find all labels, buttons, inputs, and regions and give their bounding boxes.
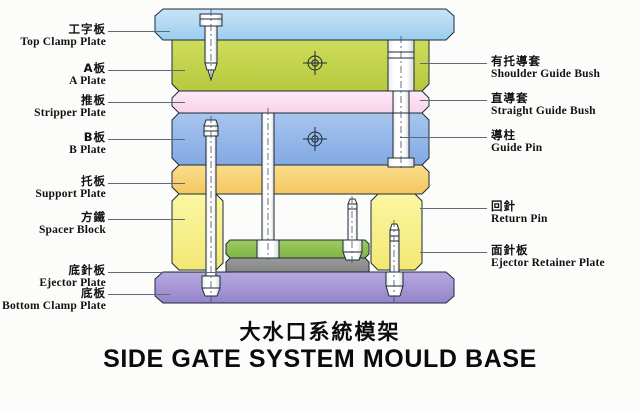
label-bottom-clamp-plate: 底板 Bottom Clamp Plate [2, 287, 106, 313]
label-b-plate-cn: B板 [69, 131, 106, 144]
label-a-plate: A板 A Plate [69, 62, 106, 88]
label-guide-pin: 導柱 Guide Pin [491, 129, 542, 155]
label-return-pin: 回針 Return Pin [491, 200, 548, 226]
label-straight-guide-bush-en: Straight Guide Bush [491, 105, 596, 118]
label-a-plate-cn: A板 [69, 62, 106, 75]
leader-b-plate [108, 139, 185, 140]
leader-straight-guide-bush [420, 100, 487, 101]
title-chinese: 大水口系統模架 [0, 316, 640, 346]
part-bottom-clamp-plate [155, 272, 454, 303]
label-support-plate-en: Support Plate [35, 188, 106, 201]
label-top-clamp-plate-cn: 工字板 [20, 23, 106, 36]
label-shoulder-guide-bush-cn: 有托導套 [491, 55, 600, 68]
leader-support-plate [108, 183, 185, 184]
leader-ejector-retainer-plate [420, 252, 487, 253]
label-straight-guide-bush: 直導套 Straight Guide Bush [491, 92, 596, 118]
label-spacer-block: 方鐵 Spacer Block [39, 211, 106, 237]
label-ejector-retainer-plate: 面針板 Ejector Retainer Plate [491, 244, 605, 270]
part-stripper-plate [172, 91, 429, 113]
label-b-plate: B板 B Plate [69, 131, 106, 157]
label-straight-guide-bush-cn: 直導套 [491, 92, 596, 105]
leader-ejector-plate [108, 272, 230, 273]
leader-shoulder-guide-bush [420, 63, 487, 64]
label-top-clamp-plate-en: Top Clamp Plate [20, 36, 106, 49]
label-b-plate-en: B Plate [69, 144, 106, 157]
leader-return-pin [420, 208, 487, 209]
label-ejector-retainer-plate-en: Ejector Retainer Plate [491, 257, 605, 270]
title-english: SIDE GATE SYSTEM MOULD BASE [0, 345, 640, 374]
leader-a-plate [108, 70, 185, 71]
label-guide-pin-cn: 導柱 [491, 129, 542, 142]
label-return-pin-cn: 回針 [491, 200, 548, 213]
label-spacer-block-en: Spacer Block [39, 224, 106, 237]
label-shoulder-guide-bush-en: Shoulder Guide Bush [491, 68, 600, 81]
label-stripper-plate-cn: 推板 [34, 94, 106, 107]
mould-base-cross-section [150, 8, 470, 313]
part-return-pin-inner-right [343, 199, 362, 260]
label-bottom-clamp-plate-en: Bottom Clamp Plate [2, 300, 106, 313]
label-ejector-retainer-plate-cn: 面針板 [491, 244, 605, 257]
label-support-plate-cn: 托板 [35, 175, 106, 188]
label-bottom-clamp-plate-cn: 底板 [2, 287, 106, 300]
label-stripper-plate: 推板 Stripper Plate [34, 94, 106, 120]
leader-top-clamp-plate [108, 31, 170, 32]
label-guide-pin-en: Guide Pin [491, 142, 542, 155]
label-stripper-plate-en: Stripper Plate [34, 107, 106, 120]
leader-spacer-block [108, 219, 185, 220]
leader-guide-pin [400, 137, 487, 138]
label-spacer-block-cn: 方鐵 [39, 211, 106, 224]
label-ejector-plate-cn: 底針板 [39, 264, 106, 277]
label-support-plate: 托板 Support Plate [35, 175, 106, 201]
label-a-plate-en: A Plate [69, 75, 106, 88]
label-top-clamp-plate: 工字板 Top Clamp Plate [20, 23, 106, 49]
diagram-canvas: 工字板 Top Clamp Plate A板 A Plate 推板 Stripp… [0, 0, 640, 410]
label-return-pin-en: Return Pin [491, 213, 548, 226]
leader-bottom-clamp-plate [108, 294, 170, 295]
leader-stripper-plate [108, 102, 185, 103]
label-shoulder-guide-bush: 有托導套 Shoulder Guide Bush [491, 55, 600, 81]
